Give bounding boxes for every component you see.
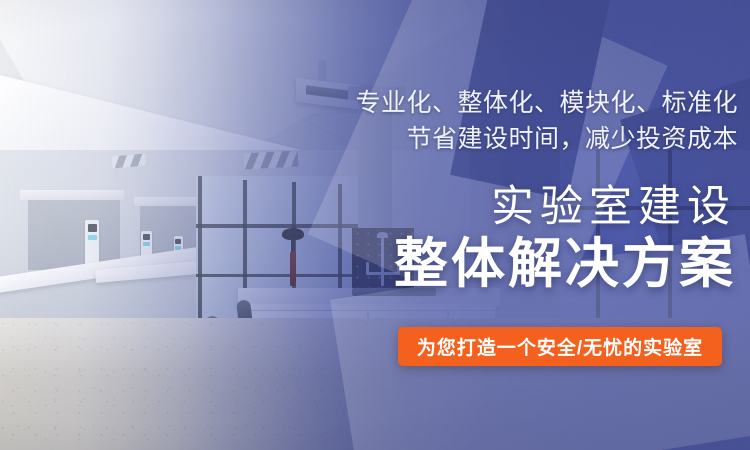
headline-line-2: 整体解决方案 — [394, 232, 736, 296]
cta-label: 为您打造一个安全/无忧的实验室 — [417, 333, 703, 360]
banner-copy: 专业化、整体化、模块化、标准化 节省建设时间，减少投资成本 实验室建设 整体解决… — [0, 0, 750, 450]
subtitle-line-1: 专业化、整体化、模块化、标准化 — [355, 88, 738, 118]
subtitle-line-2: 节省建设时间，减少投资成本 — [406, 124, 738, 154]
headline-line-1: 实验室建设 — [491, 182, 736, 232]
cta-banner[interactable]: 为您打造一个安全/无忧的实验室 — [398, 327, 722, 366]
laboratory-solution-banner: 专业化、整体化、模块化、标准化 节省建设时间，减少投资成本 实验室建设 整体解决… — [0, 0, 750, 450]
